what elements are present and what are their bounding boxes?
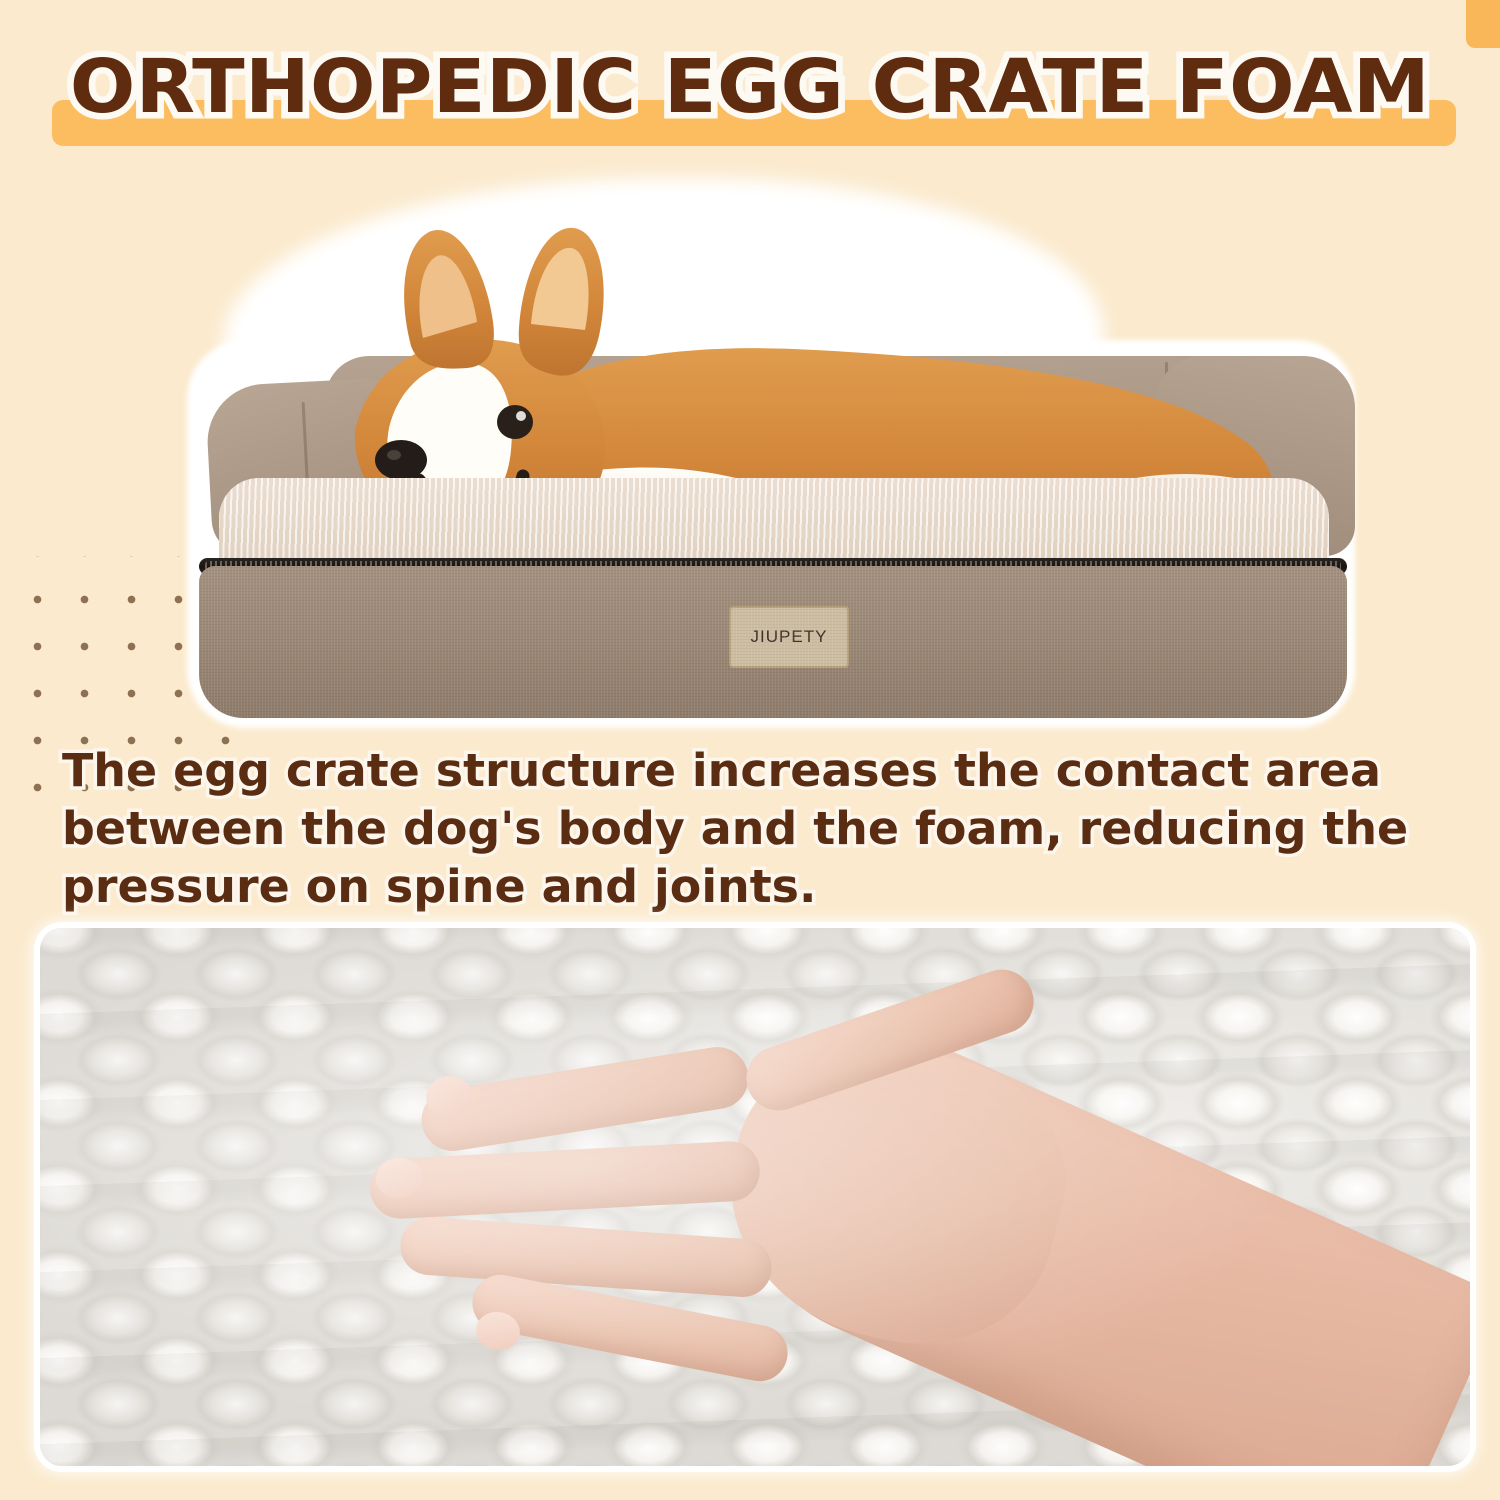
description-paragraph: The egg crate structure increases the co… xyxy=(62,742,1480,916)
product-infographic-poster: ORTHOPEDIC EGG CRATE FOAM xyxy=(0,0,1500,1500)
page-title: ORTHOPEDIC EGG CRATE FOAM xyxy=(0,44,1500,130)
foam-highlight xyxy=(40,928,1470,1466)
bed-base-fabric: JIUPETY xyxy=(199,566,1347,718)
egg-crate-foam-photo xyxy=(40,928,1470,1466)
headline-group: ORTHOPEDIC EGG CRATE FOAM xyxy=(0,44,1500,152)
hero-product-image: JIUPETY xyxy=(175,160,1365,740)
brand-label-text: JIUPETY xyxy=(751,627,828,647)
brand-label-patch: JIUPETY xyxy=(729,606,849,668)
corner-accent-block xyxy=(1466,0,1500,48)
